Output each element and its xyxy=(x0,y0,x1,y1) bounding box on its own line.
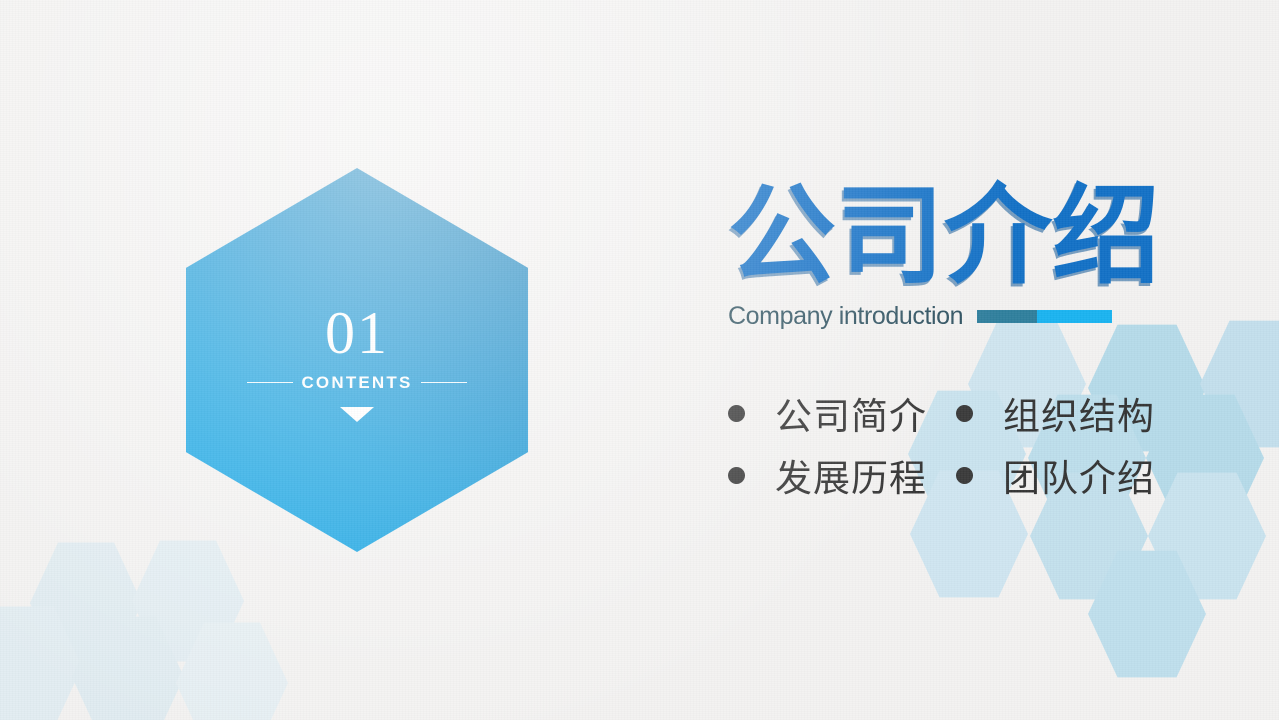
slide-canvas: 01 CONTENTS 公司介绍 Company introduction 公司… xyxy=(0,0,1279,720)
section-number-badge[interactable]: 01 CONTENTS xyxy=(186,168,528,552)
accent-bar xyxy=(977,310,1112,323)
list-item[interactable]: 发展历程 xyxy=(728,444,956,506)
list-item-label: 发展历程 xyxy=(775,448,927,502)
contents-label: CONTENTS xyxy=(301,373,412,393)
bullet-dot-icon xyxy=(956,405,973,422)
list-item-label: 公司简介 xyxy=(775,386,927,440)
page-title: 公司介绍 xyxy=(728,182,1160,290)
list-item-label: 组织结构 xyxy=(1003,386,1155,440)
accent-bar-left xyxy=(977,310,1036,323)
rule-right-icon xyxy=(421,382,467,383)
bullet-dot-icon xyxy=(728,467,745,484)
list-item[interactable]: 组织结构 xyxy=(956,382,1155,444)
accent-bar-right xyxy=(1037,310,1113,323)
triangle-down-icon xyxy=(340,407,374,422)
contents-label-row: CONTENTS xyxy=(186,373,528,393)
contents-list: 公司简介 组织结构 发展历程 团队介绍 xyxy=(728,382,1155,506)
page-subtitle: Company introduction xyxy=(728,302,963,331)
badge-content: 01 CONTENTS xyxy=(186,168,528,552)
rule-left-icon xyxy=(247,382,293,383)
bullet-dot-icon xyxy=(956,467,973,484)
subtitle-row: Company introduction xyxy=(728,302,1112,331)
section-number: 01 xyxy=(325,303,389,363)
bullet-dot-icon xyxy=(728,405,745,422)
list-item[interactable]: 公司简介 xyxy=(728,382,956,444)
list-item[interactable]: 团队介绍 xyxy=(956,444,1155,506)
heading-block: 公司介绍 Company introduction xyxy=(728,182,1160,331)
list-item-label: 团队介绍 xyxy=(1003,448,1155,502)
